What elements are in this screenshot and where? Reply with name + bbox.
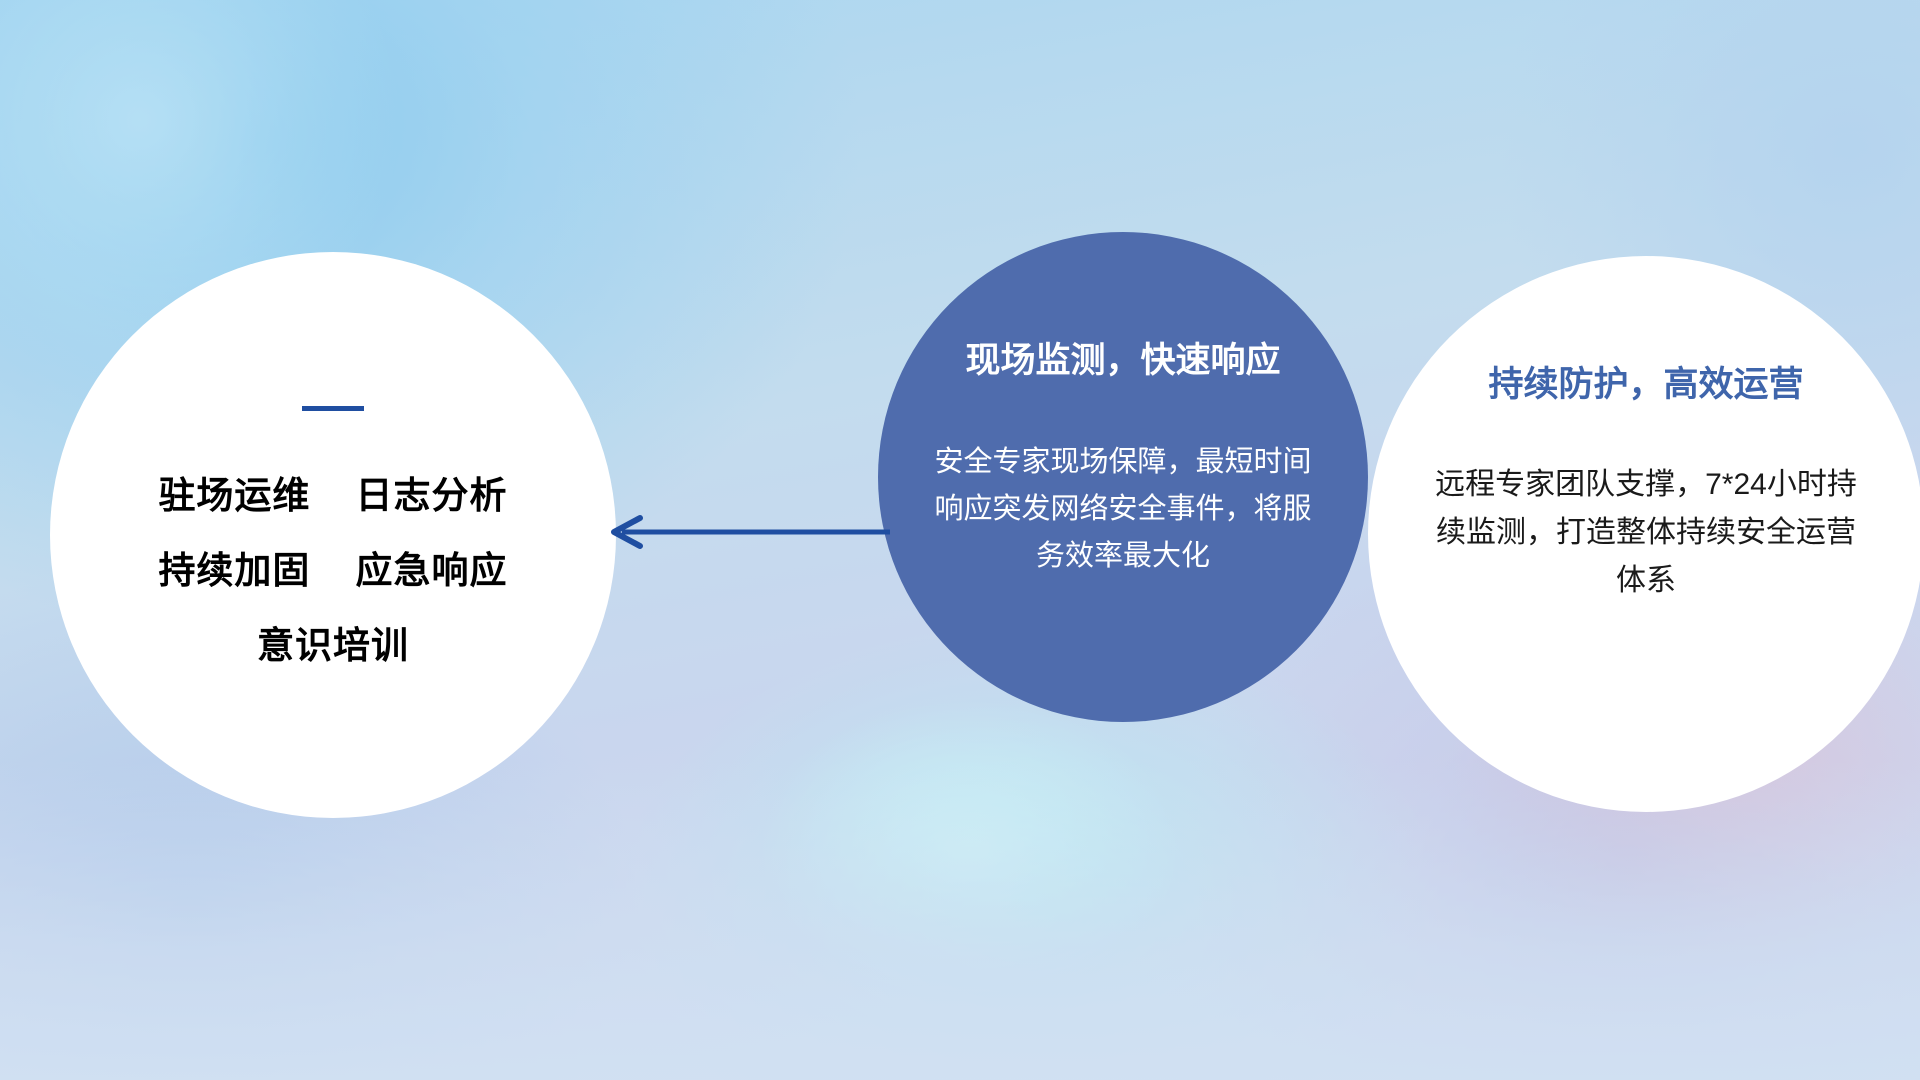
arrow-left-icon [600,512,890,552]
left-circle-line-3: 意识培训 [257,627,409,664]
left-circle-divider-rule [302,406,364,411]
flow-arrow-left [600,512,890,552]
left-circle-line-1: 驻场运维 日志分析 [158,477,507,514]
left-circle-line-2: 持续加固 应急响应 [158,552,507,589]
left-circle-content: 驻场运维 日志分析 持续加固 应急响应 意识培训 [50,252,616,818]
right-circle-title: 持续防护，高效运营 [1488,356,1803,407]
right-circle-body: 远程专家团队支撑，7*24小时持续监测，打造整体持续安全运营体系 [1431,461,1861,605]
blue-circle-content: 现场监测，快速响应 安全专家现场保障，最短时间响应突发网络安全事件，将服务效率最… [878,232,1368,722]
blue-circle-title: 现场监测，快速响应 [965,332,1280,383]
blue-circle-body: 安全专家现场保障，最短时间响应突发网络安全事件，将服务效率最大化 [928,439,1318,580]
right-circle-content: 持续防护，高效运营 远程专家团队支撑，7*24小时持续监测，打造整体持续安全运营… [1368,256,1920,812]
